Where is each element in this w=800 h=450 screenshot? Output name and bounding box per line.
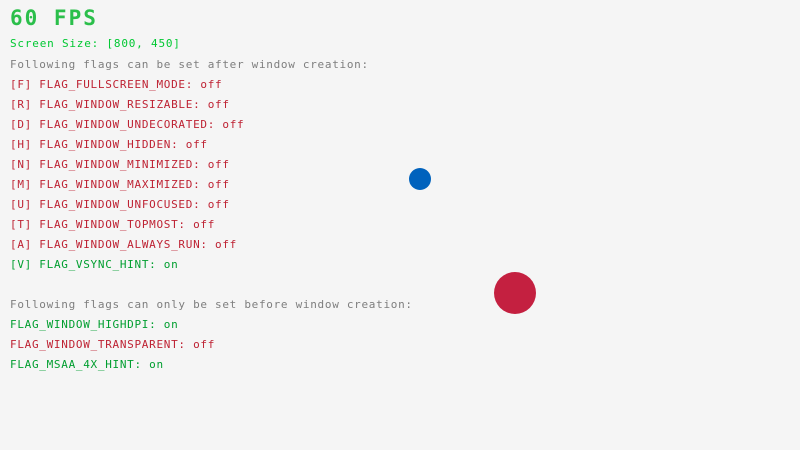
flag-key: [R] — [10, 98, 39, 111]
flag-key: [M] — [10, 178, 39, 191]
flag-value: off — [200, 98, 229, 111]
flag-key: [D] — [10, 118, 39, 131]
flag-row[interactable]: FLAG_MSAA_4X_HINT: on — [10, 359, 164, 370]
flag-row[interactable]: [U] FLAG_WINDOW_UNFOCUSED: off — [10, 199, 230, 210]
ball-blue — [409, 168, 431, 190]
flag-row[interactable]: [T] FLAG_WINDOW_TOPMOST: off — [10, 219, 215, 230]
flag-name: FLAG_WINDOW_TRANSPARENT: — [10, 338, 186, 351]
flag-name: FLAG_WINDOW_TOPMOST: — [39, 218, 185, 231]
flag-row[interactable]: [D] FLAG_WINDOW_UNDECORATED: off — [10, 119, 244, 130]
flag-key: [H] — [10, 138, 39, 151]
flag-value: off — [186, 338, 215, 351]
flag-value: off — [178, 138, 207, 151]
flag-name: FLAG_WINDOW_MINIMIZED: — [39, 158, 200, 171]
flag-name: FLAG_MSAA_4X_HINT: — [10, 358, 142, 371]
raylib-window-canvas[interactable]: 60 FPS Screen Size: [800, 450] Following… — [0, 0, 800, 450]
flag-row[interactable]: [R] FLAG_WINDOW_RESIZABLE: off — [10, 99, 230, 110]
flag-key: [N] — [10, 158, 39, 171]
section-header-after-creation: Following flags can be set after window … — [10, 59, 369, 70]
screen-size-label: Screen Size: [800, 450] — [10, 38, 181, 49]
flag-value: off — [186, 218, 215, 231]
flag-name: FLAG_WINDOW_UNDECORATED: — [39, 118, 215, 131]
flag-key: [V] — [10, 258, 39, 271]
flag-row[interactable]: FLAG_WINDOW_TRANSPARENT: off — [10, 339, 215, 350]
flag-value: off — [200, 198, 229, 211]
flag-name: FLAG_WINDOW_UNFOCUSED: — [39, 198, 200, 211]
flag-value: on — [156, 318, 178, 331]
flag-row[interactable]: [M] FLAG_WINDOW_MAXIMIZED: off — [10, 179, 230, 190]
flag-name: FLAG_VSYNC_HINT: — [39, 258, 156, 271]
flag-key: [T] — [10, 218, 39, 231]
flag-row[interactable]: [N] FLAG_WINDOW_MINIMIZED: off — [10, 159, 230, 170]
fps-counter: 60 FPS — [10, 8, 98, 29]
flag-row[interactable]: [H] FLAG_WINDOW_HIDDEN: off — [10, 139, 208, 150]
flag-value: off — [200, 178, 229, 191]
flag-value: off — [215, 118, 244, 131]
flag-key: [U] — [10, 198, 39, 211]
flag-name: FLAG_WINDOW_HIGHDPI: — [10, 318, 156, 331]
section-header-before-creation: Following flags can only be set before w… — [10, 299, 413, 310]
ball-red — [494, 272, 536, 314]
flag-value: off — [200, 158, 229, 171]
flag-value: off — [208, 238, 237, 251]
flag-name: FLAG_WINDOW_HIDDEN: — [39, 138, 178, 151]
flag-row[interactable]: [A] FLAG_WINDOW_ALWAYS_RUN: off — [10, 239, 237, 250]
flag-row[interactable]: [F] FLAG_FULLSCREEN_MODE: off — [10, 79, 222, 90]
flag-name: FLAG_WINDOW_ALWAYS_RUN: — [39, 238, 207, 251]
flag-name: FLAG_WINDOW_MAXIMIZED: — [39, 178, 200, 191]
flag-row[interactable]: FLAG_WINDOW_HIGHDPI: on — [10, 319, 178, 330]
flag-key: [F] — [10, 78, 39, 91]
flag-name: FLAG_FULLSCREEN_MODE: — [39, 78, 193, 91]
flag-value: on — [156, 258, 178, 271]
flag-name: FLAG_WINDOW_RESIZABLE: — [39, 98, 200, 111]
flag-value: on — [142, 358, 164, 371]
flag-row[interactable]: [V] FLAG_VSYNC_HINT: on — [10, 259, 178, 270]
flag-key: [A] — [10, 238, 39, 251]
flag-value: off — [193, 78, 222, 91]
